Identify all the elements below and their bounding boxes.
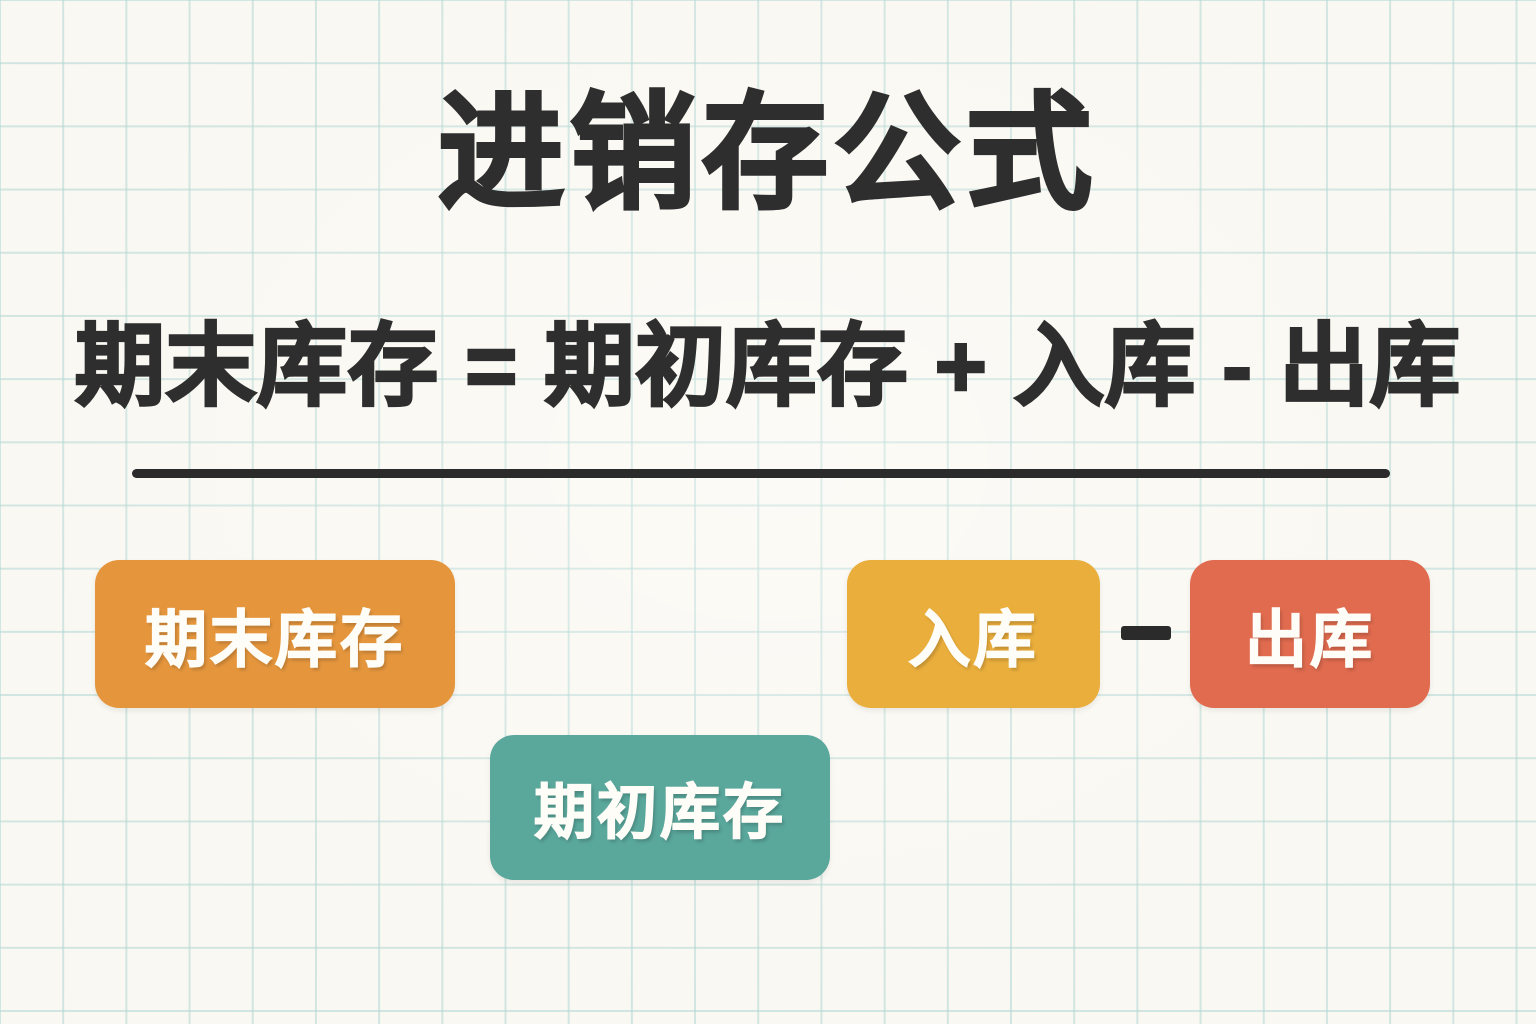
card-outbound[interactable]: 出库: [1190, 560, 1430, 708]
minus-operator-icon: [1121, 626, 1171, 640]
card-outbound-label: 出库: [1245, 589, 1375, 679]
page-title: 进销存公式: [0, 88, 1536, 220]
card-ending-inventory-label: 期末库存: [145, 589, 405, 679]
card-opening-inventory[interactable]: 期初库存: [490, 735, 830, 880]
horizontal-divider: [132, 469, 1390, 478]
infographic-canvas: 进销存公式 期末库存 = 期初库存 + 入库 - 出库 期末库存 入库 出库 期…: [0, 0, 1536, 1024]
inventory-formula-text: 期末库存 = 期初库存 + 入库 - 出库: [0, 318, 1536, 417]
card-ending-inventory[interactable]: 期末库存: [95, 560, 455, 708]
card-inbound-label: 入库: [908, 589, 1038, 679]
card-opening-inventory-label: 期初库存: [534, 764, 786, 851]
card-inbound[interactable]: 入库: [847, 560, 1100, 708]
